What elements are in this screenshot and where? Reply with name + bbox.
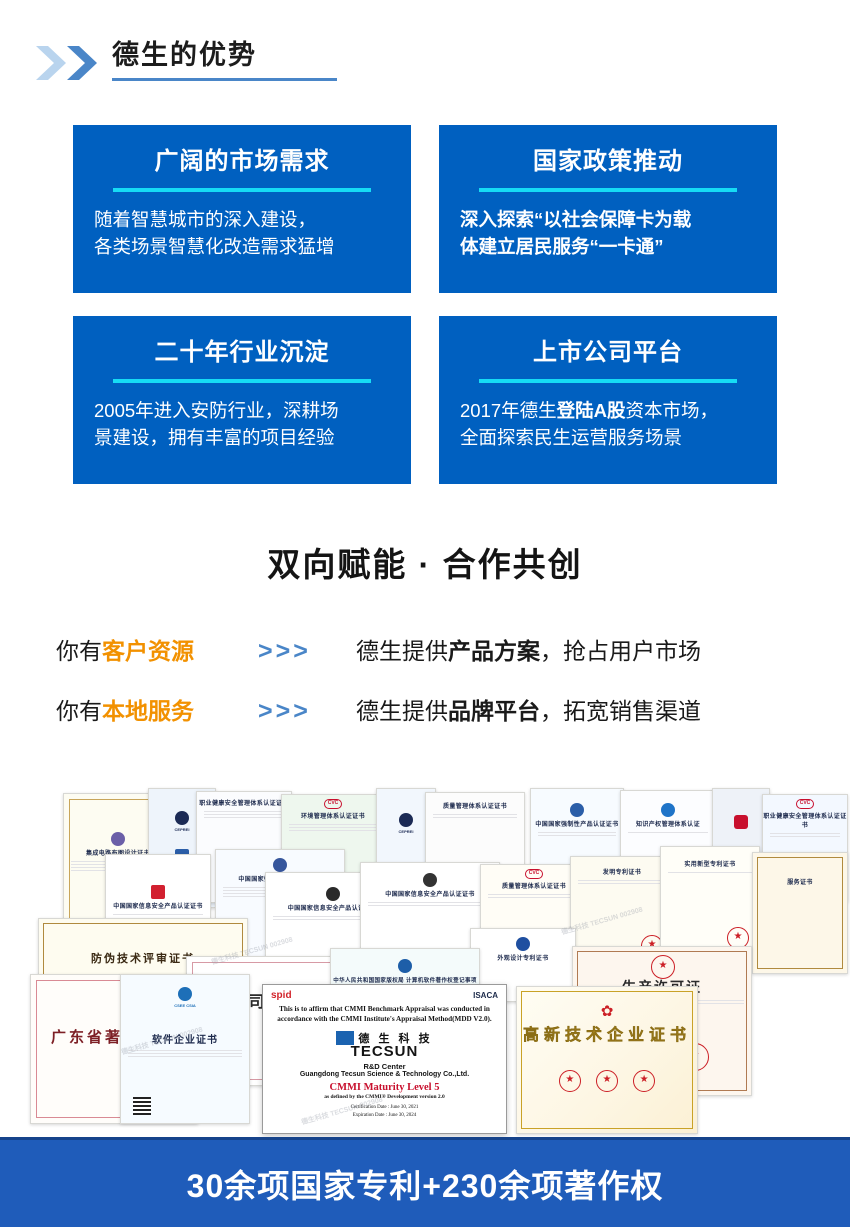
certificate-title: 外观设计专利证书 xyxy=(471,955,575,964)
certificate-title: 实用新型专利证书 xyxy=(661,861,759,870)
card-body-line: 体建立居民服务“一卡通” xyxy=(460,233,756,260)
card-title: 二十年行业沉淀 xyxy=(155,338,330,368)
advantage-card-market-demand[interactable]: 广阔的市场需求 随着智慧城市的深入建设， 各类场景智慧化改造需求猛增 xyxy=(73,125,411,293)
certificate-rule xyxy=(128,1056,242,1057)
certificate-rule xyxy=(204,814,284,815)
certificate-emblem-icon xyxy=(326,887,340,901)
card-body-line: 各类场景智慧化改造需求猛增 xyxy=(94,233,390,260)
certificate-seal-icon: ★ xyxy=(651,955,675,979)
card-body-line: 2017年德生登陆A股资本市场， xyxy=(460,397,756,424)
card-body: 2017年德生登陆A股资本市场， 全面探索民生运营服务场景 xyxy=(460,397,756,451)
synergy-left: 你有客户资源 xyxy=(56,632,252,670)
synergy-row-customer-resources: 你有客户资源 >>> 德生提供产品方案，抢占用户市场 xyxy=(56,632,816,670)
certificate-emblem-icon xyxy=(175,811,189,825)
certificate-rule xyxy=(204,817,284,818)
certificate-rule xyxy=(538,832,616,833)
bottom-banner: 30余项国家专利+230余项著作权 xyxy=(0,1137,850,1227)
card-title: 国家政策推动 xyxy=(533,147,683,177)
card-body-text: 资本市场， xyxy=(626,400,719,421)
certificate-mark: CVC xyxy=(324,799,343,809)
synergy-right: 德生提供产品方案，抢占用户市场 xyxy=(356,632,816,670)
synergy-right-suffix: ，抢占用户市场 xyxy=(540,638,701,664)
certificate-rule xyxy=(433,817,517,818)
card-title: 广阔的市场需求 xyxy=(155,147,330,177)
cmmi-defined-by: as defined by the CMMI® Development vers… xyxy=(271,1094,498,1100)
certificate-rule xyxy=(770,833,840,834)
certificate-logo-icon xyxy=(151,885,165,899)
synergy-right: 德生提供品牌平台，拓宽销售渠道 xyxy=(356,692,816,730)
certificate-emblem-icon xyxy=(178,987,192,1001)
certificate-rule xyxy=(289,827,377,828)
certificate-title: 发明专利证书 xyxy=(571,869,673,878)
card-accent-bar xyxy=(479,379,737,383)
certificate-emblem-icon xyxy=(661,803,675,817)
certificate-rule xyxy=(488,897,580,898)
title-underline xyxy=(112,78,337,81)
certificate-emblem-icon xyxy=(516,937,530,951)
synergy-row-local-service: 你有本地服务 >>> 德生提供品牌平台，拓宽销售渠道 xyxy=(56,692,816,730)
certificate-rule xyxy=(368,905,492,906)
synergy-left-highlight: 本地服务 xyxy=(102,698,194,724)
card-body: 深入探索“以社会保障卡为载 体建立居民服务“一卡通” xyxy=(460,206,756,260)
certificate-title: 职业健康安全管理体系认证证书 xyxy=(763,813,847,831)
certificate-rule xyxy=(488,894,580,895)
certificate-title: 知识产权管理体系认证 xyxy=(621,821,715,830)
advantage-card-row-2: 二十年行业沉淀 2005年进入安防行业，深耕场 景建设，拥有丰富的项目经验 上市… xyxy=(73,316,777,484)
card-title: 上市公司平台 xyxy=(533,338,683,368)
card-body-text: 2017年德生 xyxy=(460,400,557,421)
synergy-right-prefix: 德生提供 xyxy=(356,698,448,724)
certificate-frame xyxy=(521,991,693,1129)
card-body-emphasis: 登陆A股 xyxy=(557,400,626,421)
synergy-right-emphasis: 品牌平台 xyxy=(448,698,540,724)
chevron-right-icon-light xyxy=(34,44,68,82)
certificate-rule xyxy=(128,1053,242,1054)
certificate-collage: 集成电路布图设计证书 CEPREI 职业健康安全管理体系认证证书 CVC 环境管… xyxy=(0,786,850,1138)
cmmi-company: Guangdong Tecsun Science & Technology Co… xyxy=(271,1071,498,1078)
advantage-card-national-policy[interactable]: 国家政策推动 深入探索“以社会保障卡为载 体建立居民服务“一卡通” xyxy=(439,125,777,293)
cmmi-affirm-line-1: This is to affirm that CMMI Benchmark Ap… xyxy=(271,1005,498,1015)
banner-text: 30余项国家专利+230余项著作权 xyxy=(187,1161,664,1207)
certificate-item-cmmi: spid ISACA This is to affirm that CMMI B… xyxy=(262,984,507,1134)
certificate-emblem-icon xyxy=(399,813,413,827)
synergy-left-highlight: 客户资源 xyxy=(102,638,194,664)
certificate-item: 服务证书 xyxy=(752,852,848,974)
synergy-left-prefix: 你有 xyxy=(56,638,102,664)
certificate-emblem-icon xyxy=(273,858,287,872)
certificate-title: 环境管理体系认证证书 xyxy=(282,813,384,822)
isaca-logo: ISACA xyxy=(473,991,498,1000)
certificate-item: CSEE CSIA 软件企业证书 xyxy=(120,974,250,1124)
certificate-mark: CVC xyxy=(525,869,544,879)
chevron-group xyxy=(34,44,108,82)
certificate-rule xyxy=(433,814,517,815)
certificate-title: 中国国家信息安全产品认证证书 xyxy=(106,903,210,912)
synergy-right-suffix: ，拓宽销售渠道 xyxy=(540,698,701,724)
synergy-right-emphasis: 产品方案 xyxy=(448,638,540,664)
card-body-line: 2005年进入安防行业，深耕场 xyxy=(94,397,390,424)
certificate-rule xyxy=(113,914,203,915)
card-body: 随着智慧城市的深入建设， 各类场景智慧化改造需求猛增 xyxy=(94,206,390,260)
advantage-card-listed-company[interactable]: 上市公司平台 2017年德生登陆A股资本市场， 全面探索民生运营服务场景 xyxy=(439,316,777,484)
card-body-line: 随着智慧城市的深入建设， xyxy=(94,206,390,233)
card-accent-bar xyxy=(113,379,371,383)
synergy-title: 双向赋能 · 合作共创 xyxy=(0,538,850,586)
cmmi-center: R&D Center xyxy=(271,1062,498,1071)
certificate-rule xyxy=(578,883,666,884)
certificate-item: 实用新型专利证书 ★ xyxy=(660,846,760,958)
card-body-line: 全面探索民生运营服务场景 xyxy=(460,424,756,451)
certificate-item-high-tech: ✿ 高新技术企业证书 ★ ★ ★ xyxy=(516,986,698,1134)
advantage-cards: 广阔的市场需求 随着智慧城市的深入建设， 各类场景智慧化改造需求猛增 国家政策推… xyxy=(73,125,777,484)
cmmi-affirm-line-2: accordance with the CMMI Institute's App… xyxy=(271,1015,498,1025)
card-body-line: 深入探索“以社会保障卡为载 xyxy=(460,206,756,233)
certificate-rule xyxy=(578,880,666,881)
cmmi-level: CMMI Maturity Level 5 xyxy=(271,1082,498,1093)
certificate-rule xyxy=(368,902,492,903)
certificate-mark: CSEE CSIA xyxy=(121,1003,249,1009)
certificate-rule xyxy=(770,836,840,837)
certificate-title: 职业健康安全管理体系认证证书 xyxy=(197,800,291,809)
certificate-rule xyxy=(538,835,616,836)
certificate-title: 中国国家强制性产品认证证书 xyxy=(531,821,623,830)
advantage-card-industry-experience[interactable]: 二十年行业沉淀 2005年进入安防行业，深耕场 景建设，拥有丰富的项目经验 xyxy=(73,316,411,484)
card-body-line: 景建设，拥有丰富的项目经验 xyxy=(94,424,390,451)
certificate-frame xyxy=(757,857,843,969)
arrow-right-triple-icon: >>> xyxy=(252,692,356,730)
certificate-emblem-icon xyxy=(570,803,584,817)
certificate-title: 软件企业证书 xyxy=(121,1033,249,1048)
certificate-rule xyxy=(628,832,708,833)
card-accent-bar xyxy=(479,188,737,192)
section-header: 德生的优势 xyxy=(0,36,850,92)
page-title: 德生的优势 xyxy=(112,36,257,74)
tecsun-brand-en: TECSUN xyxy=(271,1043,498,1060)
certificate-rule xyxy=(289,830,377,831)
cmmi-expiration-date: Expiration Date : June 30, 2024 xyxy=(271,1112,498,1120)
synergy-right-prefix: 德生提供 xyxy=(356,638,448,664)
spid-logo: spid xyxy=(271,990,292,1001)
certificate-rule xyxy=(128,1050,242,1051)
advantage-card-row-1: 广阔的市场需求 随着智慧城市的深入建设， 各类场景智慧化改造需求猛增 国家政策推… xyxy=(73,125,777,293)
arrow-right-triple-icon: >>> xyxy=(252,632,356,670)
certificate-emblem-icon xyxy=(423,873,437,887)
certificate-title: 中国国家信息安全产品认证证书 xyxy=(361,891,499,900)
card-accent-bar xyxy=(113,188,371,192)
certificate-rule xyxy=(668,872,752,873)
synergy-left-prefix: 你有 xyxy=(56,698,102,724)
card-body: 2005年进入安防行业，深耕场 景建设，拥有丰富的项目经验 xyxy=(94,397,390,451)
certificate-title: 质量管理体系认证证书 xyxy=(426,803,524,812)
certificate-rule xyxy=(289,824,377,825)
qr-code-icon xyxy=(133,1097,151,1115)
chevron-right-icon-dark xyxy=(65,44,99,82)
certificate-logo-icon xyxy=(734,815,748,829)
certificate-rule xyxy=(204,811,284,812)
synergy-left: 你有本地服务 xyxy=(56,692,252,730)
cmmi-certification-date: Certification Date : June 30, 2021 xyxy=(271,1104,498,1112)
certificate-emblem-icon xyxy=(398,959,412,973)
certificate-mark: CVC xyxy=(796,799,815,809)
